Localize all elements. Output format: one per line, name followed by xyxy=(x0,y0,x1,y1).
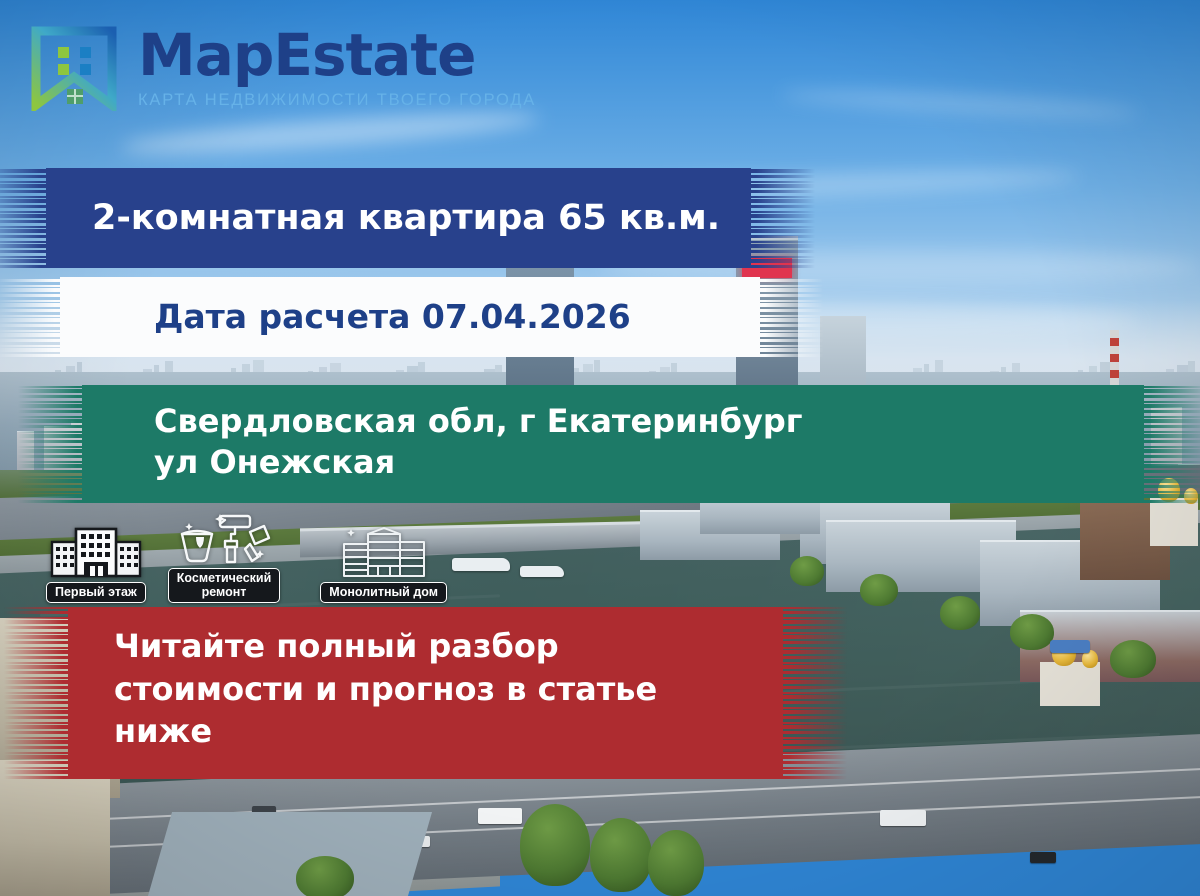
cta-line-1: Читайте полный разбор xyxy=(114,625,783,668)
logo-text: MapEstate КАРТА НЕДВИЖИМОСТИ ТВОЕГО ГОРО… xyxy=(138,26,536,110)
calculation-date: Дата расчета 07.04.2026 xyxy=(60,277,760,357)
brush-edge-right xyxy=(1144,385,1200,503)
brush-edge-left xyxy=(0,277,60,357)
tree xyxy=(1110,640,1156,678)
boat xyxy=(520,566,564,577)
brush-edge-left xyxy=(18,385,82,503)
poster-canvas: MapEstate КАРТА НЕДВИЖИМОСТИ ТВОЕГО ГОРО… xyxy=(0,0,1200,896)
badge-monolithic-house[interactable]: Монолитный дом xyxy=(320,526,447,604)
tree xyxy=(296,856,354,896)
brand-name: MapEstate xyxy=(138,26,536,84)
tree xyxy=(520,804,590,886)
tree xyxy=(648,830,704,896)
address-text: Свердловская обл, г Екатеринбург ул Онеж… xyxy=(82,385,1144,483)
brand-header: MapEstate КАРТА НЕДВИЖИМОСТИ ТВОЕГО ГОРО… xyxy=(0,0,1200,135)
bus xyxy=(880,810,926,826)
trolleybus xyxy=(1050,640,1090,653)
tree xyxy=(860,574,898,606)
church xyxy=(1150,498,1198,546)
paint-roller-brush-bucket-icon xyxy=(176,512,272,566)
brand-tagline: КАРТА НЕДВИЖИМОСТИ ТВОЕГО ГОРОДА xyxy=(138,91,536,110)
tree xyxy=(940,596,980,630)
brush-edge-left xyxy=(4,607,68,779)
logo-icon[interactable] xyxy=(28,25,120,111)
roof xyxy=(148,812,432,896)
apartment-building-icon xyxy=(48,526,144,580)
boat xyxy=(452,558,510,571)
badge-first-floor[interactable]: Первый этаж xyxy=(46,526,146,604)
badge-label: Косметический ремонт xyxy=(168,568,281,603)
address-banner: Свердловская обл, г Екатеринбург ул Онеж… xyxy=(82,385,1144,503)
tree xyxy=(790,556,824,586)
cta-line-3: ниже xyxy=(114,710,783,753)
building xyxy=(0,760,110,896)
date-banner: Дата расчета 07.04.2026 xyxy=(60,277,760,357)
brush-edge-right xyxy=(760,277,824,357)
tree xyxy=(1010,614,1054,650)
brush-edge-left xyxy=(0,168,46,268)
cta-text: Читайте полный разбор стоимости и прогно… xyxy=(68,607,783,753)
cta-banner[interactable]: Читайте полный разбор стоимости и прогно… xyxy=(68,607,783,779)
title-banner: 2-комнатная квартира 65 кв.м. xyxy=(46,168,751,268)
address-line-1: Свердловская обл, г Екатеринбург xyxy=(154,401,1144,442)
cta-line-2: стоимости и прогноз в статье xyxy=(114,668,783,711)
badge-label: Монолитный дом xyxy=(320,582,447,604)
monolithic-house-icon xyxy=(334,526,434,580)
address-line-2: ул Онежская xyxy=(154,442,1144,483)
brush-edge-right xyxy=(751,168,815,268)
badge-label: Первый этаж xyxy=(46,582,146,604)
church xyxy=(1040,662,1100,706)
car xyxy=(1030,852,1056,863)
badge-cosmetic-repair[interactable]: Косметический ремонт xyxy=(168,512,281,603)
brush-edge-right xyxy=(783,607,847,779)
feature-badges: Первый этаж xyxy=(46,512,447,603)
property-title: 2-комнатная квартира 65 кв.м. xyxy=(46,168,751,268)
tree xyxy=(590,818,652,892)
bus xyxy=(478,808,522,824)
